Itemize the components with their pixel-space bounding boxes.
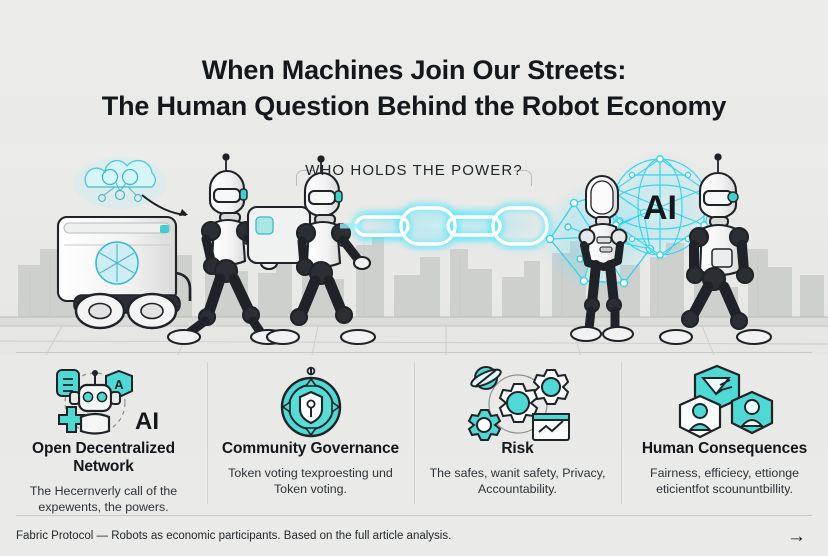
ai-robot-head-icon: A AI <box>39 366 169 440</box>
feature-card-community-governance[interactable]: Community Governance Token voting texpro… <box>207 360 414 515</box>
feature-card-open-decentralized-network[interactable]: A AI Open Decentralized Network The Hece… <box>0 360 207 515</box>
shield-medallion-icon <box>266 366 356 440</box>
title-line-1: When Machines Join Our Streets: <box>0 52 828 88</box>
scene-divider <box>16 352 812 353</box>
gears-analytics-icon <box>459 366 577 440</box>
hexagon-people-badges-icon <box>669 366 781 440</box>
feature-card-risk[interactable]: Risk The safes, wanit safety, Privacy, A… <box>414 360 621 515</box>
card-description: Token voting texproesting und Token voti… <box>217 465 404 497</box>
card-title: Community Governance <box>222 440 399 458</box>
blockchain-chain-links <box>340 203 548 247</box>
footer-attribution: Fabric Protocol — Robots as economic par… <box>16 530 451 542</box>
footer-divider <box>16 515 812 516</box>
sidewalk-pavement <box>0 317 828 355</box>
card-title: Open Decentralized Network <box>14 440 194 476</box>
ai-sphere-label: AI <box>643 189 677 227</box>
card-description: The Hecernverly call of the expewents, t… <box>10 483 197 515</box>
card-title: Human Consequences <box>642 440 807 458</box>
card-title: Risk <box>501 440 533 458</box>
power-question-label: WHO HOLDS THE POWER? <box>0 162 828 179</box>
footer: Fabric Protocol — Robots as economic par… <box>16 524 812 548</box>
poster-root: When Machines Join Our Streets: The Huma… <box>0 0 828 556</box>
title-line-2: The Human Question Behind the Robot Econ… <box>0 88 828 124</box>
page-title: When Machines Join Our Streets: The Huma… <box>0 52 828 124</box>
card-description: Fairness, efficiecy, ettionge eticientfo… <box>631 465 818 497</box>
arrow-right-icon[interactable]: → <box>787 527 812 546</box>
feature-card-human-consequences[interactable]: Human Consequences Fairness, efficiecy, … <box>621 360 828 515</box>
svg-text:A: A <box>114 377 124 392</box>
card-description: The safes, wanit safety, Privacy, Accoun… <box>424 465 611 497</box>
card-icon-ai-label: AI <box>135 408 159 435</box>
delivery-robot-cart <box>58 217 190 328</box>
feature-card-row: A AI Open Decentralized Network The Hece… <box>0 360 828 515</box>
